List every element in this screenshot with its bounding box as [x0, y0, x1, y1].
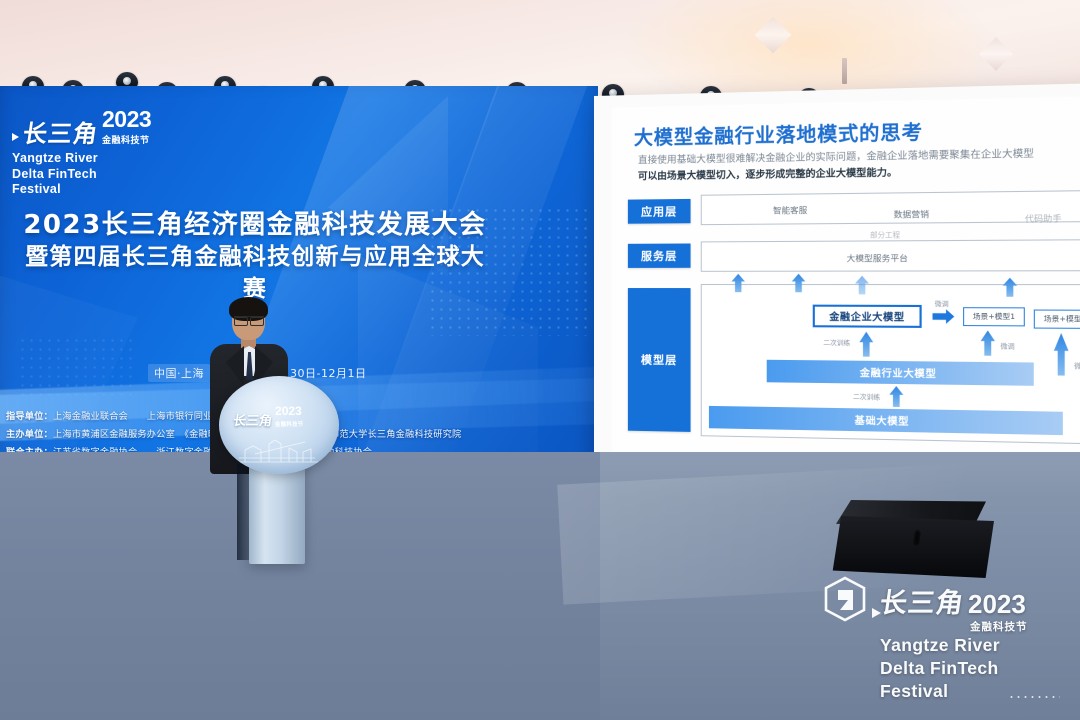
backdrop-logo-en-2: Delta FinTech — [12, 167, 192, 183]
podium-panel: 长三角 2023 金融科技节 — [219, 376, 339, 474]
scenario-model-box-2: 场景+模型2 — [1034, 309, 1080, 328]
industry-model-bar: 金融行业大模型 — [767, 360, 1034, 386]
enterprise-model-box: 金融企业大模型 — [813, 305, 922, 328]
speaker-glasses-icon — [234, 316, 264, 323]
festival-emblem-icon — [822, 576, 868, 622]
headline-line-1: 2023长三角经济圈金融科技发展大会 — [20, 208, 490, 242]
projection-screen: 大模型金融行业落地模式的思考 直接使用基础大模型很难解决金融企业的实际问题，金融… — [594, 83, 1080, 484]
backdrop-location: 中国·上海 — [148, 364, 210, 382]
slide-subtitle-line-2: 可以由场景大模型切入，逐步形成完整的企业大模型能力。 — [638, 167, 897, 182]
scenario-model-box-1: 场景+模型1 — [963, 307, 1025, 326]
layer-chip-service: 服务层 — [628, 243, 691, 267]
arrow-note-finetune: 微调 — [1000, 341, 1014, 351]
podium-logo-cn: 长三角 — [232, 415, 273, 428]
festival-watermark: 长三角 2023 金融科技节 Yangtze River Delta FinTe… — [818, 576, 1068, 708]
headline-line-2: 暨第四届长三角金融科技创新与应用全球大赛 — [20, 242, 490, 305]
stage-monitor-speaker — [826, 500, 994, 578]
podium: 长三角 2023 金融科技节 — [219, 376, 339, 566]
podium-logo-subcn: 金融科技节 — [275, 420, 303, 428]
podium-logo-year: 2023 — [275, 404, 302, 418]
monitor-front-face — [826, 516, 994, 578]
arrow-note-finetune: 微调 — [1074, 361, 1080, 371]
layer-box-application — [701, 190, 1080, 225]
watermark-year: 2023 — [968, 591, 1026, 617]
podium-skyline-graphic — [235, 436, 321, 464]
layer-chip-model: 模型层 — [628, 288, 691, 432]
arrow-note-retrain: 二次训练 — [853, 392, 880, 402]
service-item-1: 大模型服务平台 — [847, 252, 908, 265]
organizer-label: 主办单位： — [6, 429, 53, 440]
backdrop-logo-en-3: Festival — [12, 182, 192, 198]
presentation-slide: 大模型金融行业落地模式的思考 直接使用基础大模型很难解决金融企业的实际问题，金融… — [612, 96, 1080, 469]
stage-photo-scene: 长三角 2023 金融科技节 Yangtze River Delta FinTe… — [0, 0, 1080, 720]
layer-chip-application: 应用层 — [628, 199, 691, 224]
podium-stem — [249, 464, 305, 564]
arrow-note-retrain: 二次训练 — [823, 338, 850, 348]
watermark-dots — [1008, 694, 1060, 700]
slide-title: 大模型金融行业落地模式的思考 — [634, 117, 923, 150]
watermark-en-2: Delta FinTech — [880, 657, 1000, 680]
watermark-cn: 长三角 — [878, 590, 966, 617]
app-item-2: 数据营销 — [894, 208, 929, 221]
backdrop-headline: 2023长三角经济圈金融科技发展大会 暨第四届长三角金融科技创新与应用全球大赛 — [20, 208, 490, 305]
slide-subtitle: 直接使用基础大模型很难解决金融企业的实际问题，金融企业落地需要聚集在企业大模型 … — [638, 145, 1080, 185]
backdrop-logo-en-1: Yangtze River — [12, 151, 192, 167]
watermark-en-1: Yangtze River — [880, 634, 1000, 657]
arrow-note-finetune: 微调 — [935, 299, 949, 308]
ceiling-hanger — [842, 58, 847, 84]
backdrop-logo-year: 2023 — [102, 106, 151, 132]
backdrop-logo: 长三角 2023 金融科技节 Yangtze River Delta FinTe… — [12, 108, 192, 198]
monitor-port-slot — [913, 530, 921, 547]
logo-arrow-icon — [12, 133, 19, 141]
service-note: 部分工程 — [870, 230, 900, 241]
app-item-1: 智能客服 — [773, 204, 807, 217]
organizer-label: 指导单位： — [6, 411, 53, 422]
backdrop-logo-subcn: 金融科技节 — [102, 133, 151, 146]
watermark-subcn: 金融科技节 — [970, 619, 1028, 634]
podium-logo: 长三角 2023 金融科技节 — [233, 402, 325, 428]
watermark-en-3: Festival — [880, 680, 1000, 703]
backdrop-logo-cn: 长三角 — [21, 122, 99, 146]
app-item-3: 代码助手 — [1025, 212, 1062, 225]
